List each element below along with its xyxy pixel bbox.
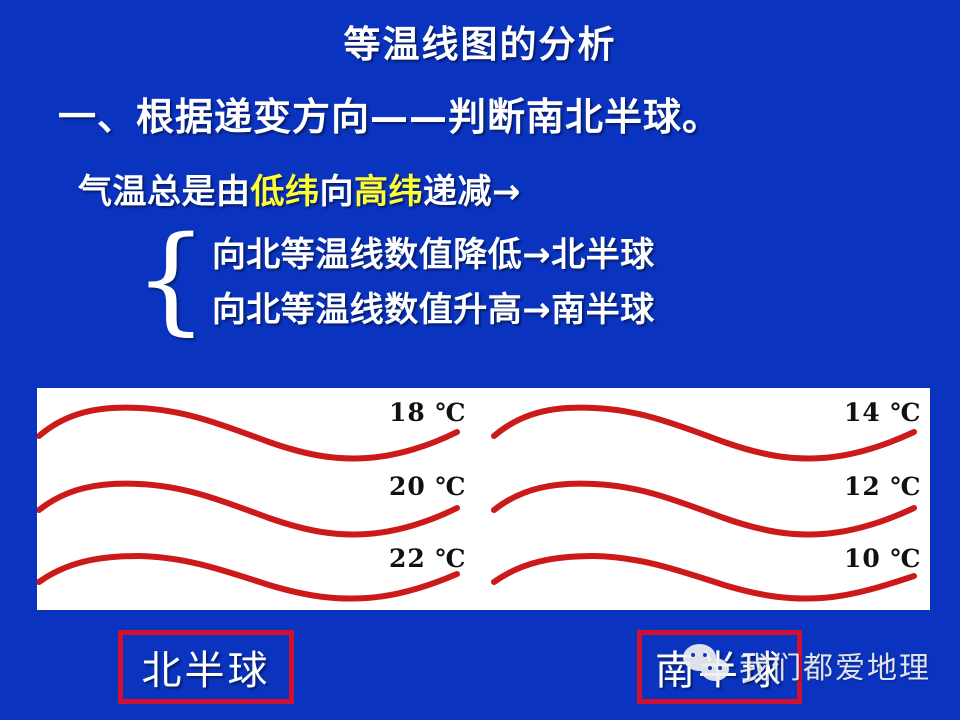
rule-highlight-low-latitude: 低纬 bbox=[251, 172, 320, 212]
rule-statement: 气温总是由低纬向高纬递减→ bbox=[78, 164, 521, 213]
brace-lines: 向北等温线数值降低→北半球 向北等温线数值升高→南半球 bbox=[212, 228, 655, 338]
isotherm-label-left-2: 20 ℃ bbox=[389, 472, 466, 501]
isotherm-label-left-1: 18 ℃ bbox=[389, 398, 466, 427]
rule-highlight-high-latitude: 高纬 bbox=[354, 172, 423, 212]
rule-prefix: 气温总是由 bbox=[78, 172, 251, 212]
rule-suffix: 递减→ bbox=[423, 172, 521, 212]
isotherm-label-right-1: 14 ℃ bbox=[844, 398, 921, 427]
rule-middle: 向 bbox=[320, 172, 355, 212]
answer-box-north: 北半球 bbox=[118, 630, 294, 704]
answer-box-south: 南半球 bbox=[637, 630, 802, 704]
section-heading: 一、根据递变方向——判断南北半球。 bbox=[58, 86, 721, 141]
brace-block: { 向北等温线数值降低→北半球 向北等温线数值升高→南半球 bbox=[134, 228, 655, 338]
answer-label-north: 北半球 bbox=[142, 638, 271, 696]
isotherm-panel-right: 14 ℃ 12 ℃ 10 ℃ bbox=[484, 388, 930, 610]
isotherm-label-right-2: 12 ℃ bbox=[844, 472, 921, 501]
isotherm-diagram-panel: 18 ℃ 20 ℃ 22 ℃ 14 ℃ 12 ℃ 10 ℃ bbox=[37, 388, 930, 610]
isotherm-label-right-3: 10 ℃ bbox=[844, 544, 921, 573]
isotherm-label-left-3: 22 ℃ bbox=[389, 544, 466, 573]
slide-canvas: 等温线图的分析 一、根据递变方向——判断南北半球。 气温总是由低纬向高纬递减→ … bbox=[0, 0, 960, 720]
page-title: 等温线图的分析 bbox=[0, 14, 960, 68]
brace-line-south: 向北等温线数值升高→南半球 bbox=[212, 283, 655, 338]
isotherm-panel-left: 18 ℃ 20 ℃ 22 ℃ bbox=[37, 388, 483, 610]
answer-label-south: 南半球 bbox=[655, 638, 784, 696]
curly-brace-icon: { bbox=[134, 227, 208, 333]
brace-line-north: 向北等温线数值降低→北半球 bbox=[212, 228, 655, 283]
